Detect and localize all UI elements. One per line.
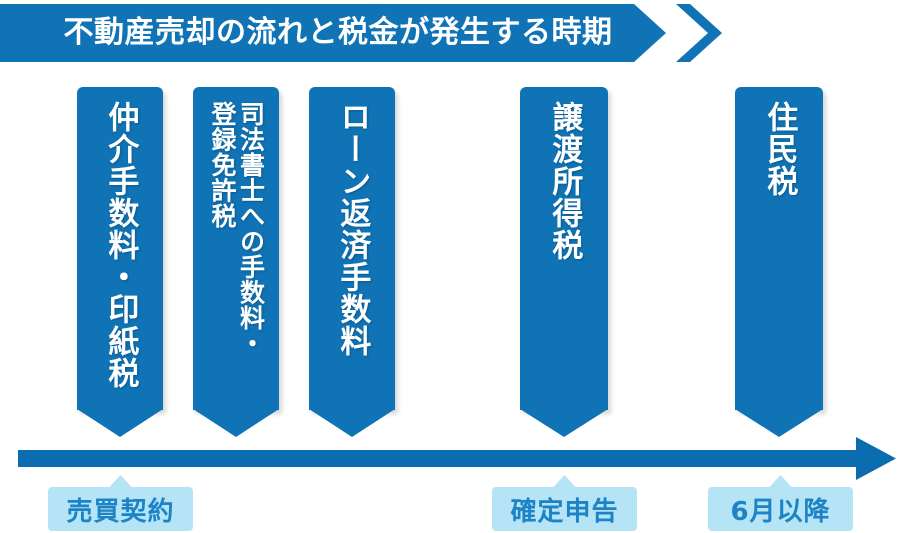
timeline-stage-label: 確定申告 [510, 491, 618, 528]
tax-banner-capital-gains-tax: 譲渡所得税 [520, 87, 608, 410]
tax-banner-text: 仲介手数料・印紙税 [77, 101, 163, 389]
tax-banner-resident-tax: 住民税 [735, 87, 823, 410]
timeline-stage-tax-return: 確定申告 [492, 487, 637, 531]
tax-banner-label: 住民税 [763, 101, 796, 197]
timeline-stage-sales-contract: 売買契約 [48, 487, 193, 531]
tax-banner-loan-repayment-fee: ローン返済手数料 [309, 87, 395, 410]
timeline-stage-label: 売買契約 [66, 491, 174, 528]
timeline-stage-label: 6月以降 [730, 491, 830, 528]
tax-banner-brokerage-stamp: 仲介手数料・印紙税 [77, 87, 163, 410]
banner-pointer [520, 409, 608, 437]
timeline-bar [18, 450, 870, 467]
tax-banner-text: 譲渡所得税 [520, 101, 608, 261]
banner-pointer [193, 409, 279, 437]
tax-banner-label: 登録免許税 [209, 101, 236, 229]
tax-banner-text: 司法書士への手数料・登録免許税 [193, 101, 279, 356]
banner-pointer [77, 409, 163, 437]
banner-pointer [735, 409, 823, 437]
tax-banner-label: ローン返済手数料 [336, 101, 369, 357]
tax-banner-label: 仲介手数料・印紙税 [104, 101, 137, 389]
tax-banner-judicial-scrivener-registration: 司法書士への手数料・登録免許税 [193, 87, 279, 410]
chevron-right-icon [676, 4, 722, 62]
tax-banner-label: 司法書士への手数料・ [237, 101, 264, 356]
arrow-right-icon [856, 437, 896, 480]
tax-banner-text: ローン返済手数料 [309, 101, 395, 357]
infographic-canvas: 不動産売却の流れと税金が発生する時期 仲介手数料・印紙税司法書士への手数料・登録… [0, 0, 900, 533]
timeline-stage-june-onward: 6月以降 [708, 487, 853, 531]
banner-pointer [309, 409, 395, 437]
tax-banner-label: 譲渡所得税 [548, 101, 581, 261]
tax-banner-text: 住民税 [735, 101, 823, 197]
page-title: 不動産売却の流れと税金が発生する時期 [8, 6, 668, 60]
